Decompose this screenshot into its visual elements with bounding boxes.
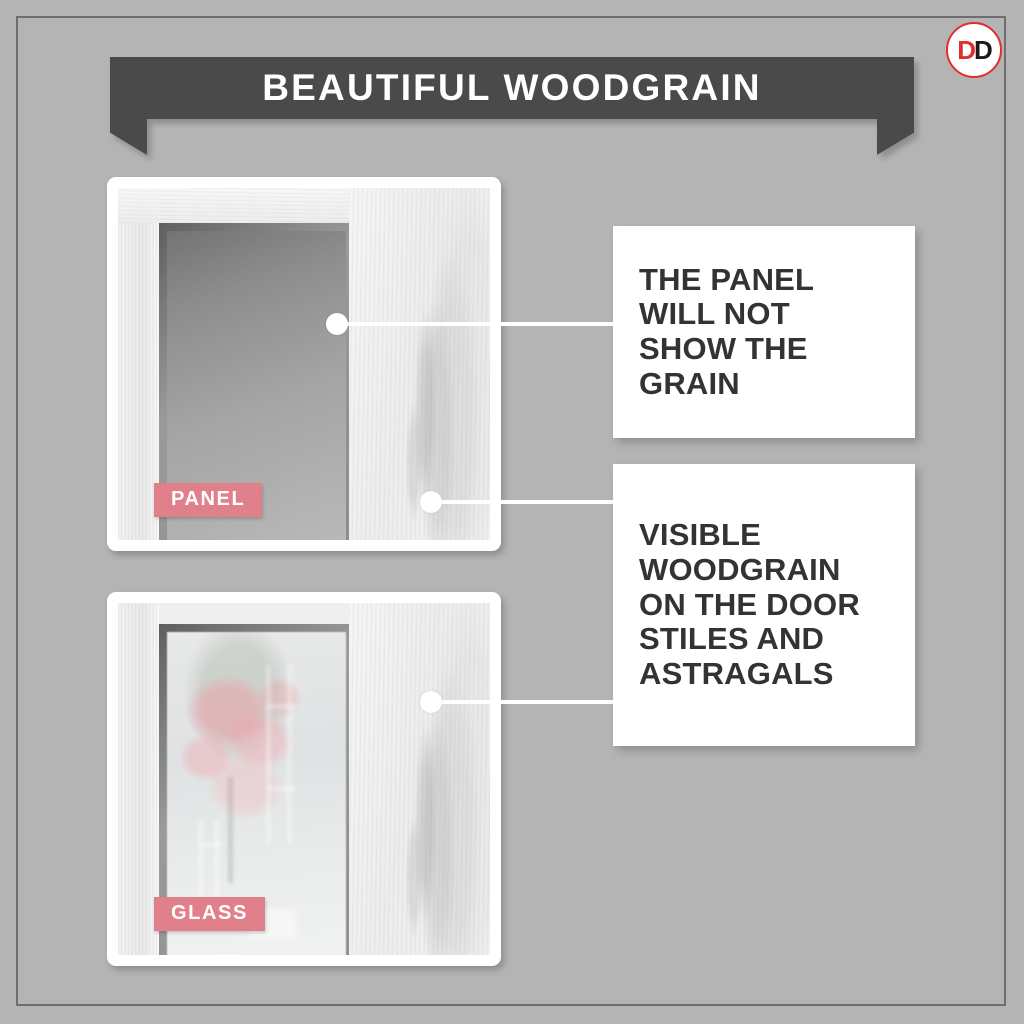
door-rail-top-upper xyxy=(118,188,349,223)
logo-letter-second: D xyxy=(974,35,991,65)
glass-transom-2 xyxy=(267,787,296,790)
marker-dot-stile-upper[interactable] xyxy=(420,491,442,513)
brand-logo[interactable]: DD xyxy=(946,22,1002,78)
connector-line-panel xyxy=(336,322,620,326)
photo-card-glass: GLASS xyxy=(107,592,501,966)
page-title: BEAUTIFUL WOODGRAIN xyxy=(110,57,914,119)
marker-dot-stile-lower[interactable] xyxy=(420,691,442,713)
glass-mullion-4 xyxy=(215,820,218,906)
glass-mullion-1 xyxy=(267,665,270,843)
door-stile-woodgrain-lower xyxy=(349,603,490,955)
door-stile-woodgrain-upper xyxy=(349,188,490,540)
glass-mullion-3 xyxy=(199,820,202,906)
photo-label-glass: GLASS xyxy=(154,897,265,931)
connector-line-stile-lower xyxy=(430,700,620,704)
callout-text-panel-no-grain: THE PANEL WILL NOT SHOW THE GRAIN xyxy=(613,263,915,402)
ribbon-tail-right xyxy=(877,119,914,155)
callout-box-panel-no-grain: THE PANEL WILL NOT SHOW THE GRAIN xyxy=(613,226,915,438)
marker-dot-panel[interactable] xyxy=(326,313,348,335)
glass-transom-1 xyxy=(267,705,296,708)
title-ribbon: BEAUTIFUL WOODGRAIN xyxy=(110,57,914,155)
callout-text-visible-woodgrain: VISIBLE WOODGRAIN ON THE DOOR STILES AND… xyxy=(613,518,915,692)
photo-label-panel: PANEL xyxy=(154,483,262,517)
photo-card-panel: PANEL xyxy=(107,177,501,551)
door-rail-left-upper xyxy=(118,188,159,540)
glass-mullion-2 xyxy=(288,665,291,843)
callout-box-visible-woodgrain: VISIBLE WOODGRAIN ON THE DOOR STILES AND… xyxy=(613,464,915,746)
glass-transom-3 xyxy=(199,843,220,846)
logo-text: DD xyxy=(957,37,991,63)
logo-letter-first: D xyxy=(957,35,974,65)
glass-plant-stem xyxy=(228,777,233,883)
connector-line-stile-upper xyxy=(430,500,620,504)
door-rail-left-lower xyxy=(118,603,159,955)
ribbon-tail-left xyxy=(110,119,147,155)
